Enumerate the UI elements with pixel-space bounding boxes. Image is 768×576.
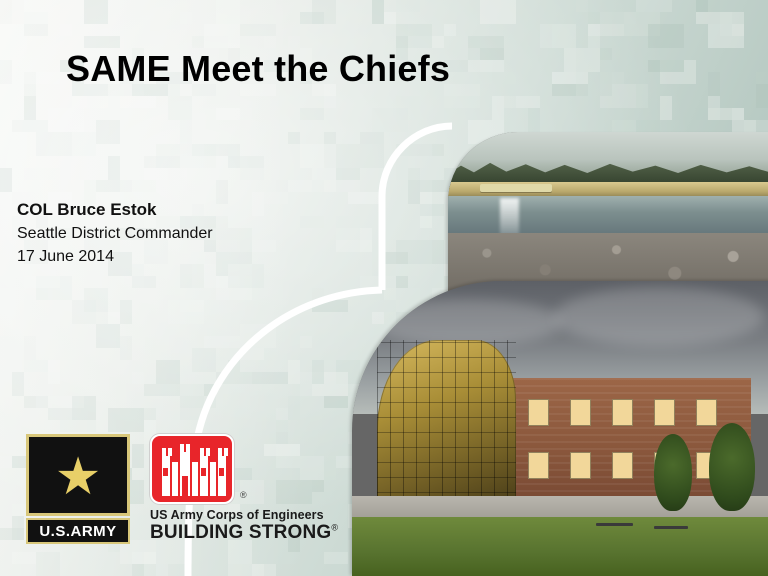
presenter-name: COL Bruce Estok xyxy=(17,198,213,222)
us-army-logo: ★ U.S.ARMY xyxy=(26,434,130,544)
photo-tree xyxy=(654,434,692,511)
photo-water-surface xyxy=(448,196,768,236)
usace-org-line: US Army Corps of Engineers xyxy=(150,508,338,522)
slide-title: SAME Meet the Chiefs xyxy=(66,48,450,90)
usace-text-block: US Army Corps of Engineers BUILDING STRO… xyxy=(150,508,338,544)
photo-lawn xyxy=(352,517,768,576)
castle-icon xyxy=(160,442,228,498)
usace-tagline: BUILDING STRONG xyxy=(150,522,331,543)
usace-tagline-wrap: BUILDING STRONG® xyxy=(150,522,338,544)
office-building-photo xyxy=(352,281,768,576)
photo-cloud xyxy=(554,287,764,346)
photo-bench xyxy=(654,526,688,529)
shoreline-water-photo xyxy=(448,132,768,300)
photo-water-reflection xyxy=(500,198,519,237)
photo-window xyxy=(612,399,633,426)
army-wordmark-band: U.S.ARMY xyxy=(26,518,130,544)
photo-boat xyxy=(480,184,551,192)
photo-tree xyxy=(709,423,755,512)
usace-castle-logo: ® xyxy=(150,434,234,504)
photo-window xyxy=(570,399,591,426)
registered-mark-icon: ® xyxy=(331,523,338,533)
registered-mark-icon: ® xyxy=(240,490,247,500)
photo-window xyxy=(654,399,675,426)
photo-window xyxy=(612,452,633,479)
army-star-emblem: ★ xyxy=(26,434,130,516)
photo-window xyxy=(696,399,717,426)
presenter-block: COL Bruce Estok Seattle District Command… xyxy=(17,198,213,268)
presenter-role: Seattle District Commander xyxy=(17,222,213,245)
castle-badge xyxy=(150,434,234,504)
presentation-slide: SAME Meet the Chiefs COL Bruce Estok Sea… xyxy=(0,0,768,576)
army-wordmark: U.S.ARMY xyxy=(39,523,116,540)
photo-window xyxy=(528,452,549,479)
photo-window xyxy=(528,399,549,426)
presentation-date: 17 June 2014 xyxy=(17,245,213,268)
photo-window xyxy=(570,452,591,479)
photo-bench xyxy=(596,523,634,526)
photo-cloud xyxy=(373,299,562,346)
